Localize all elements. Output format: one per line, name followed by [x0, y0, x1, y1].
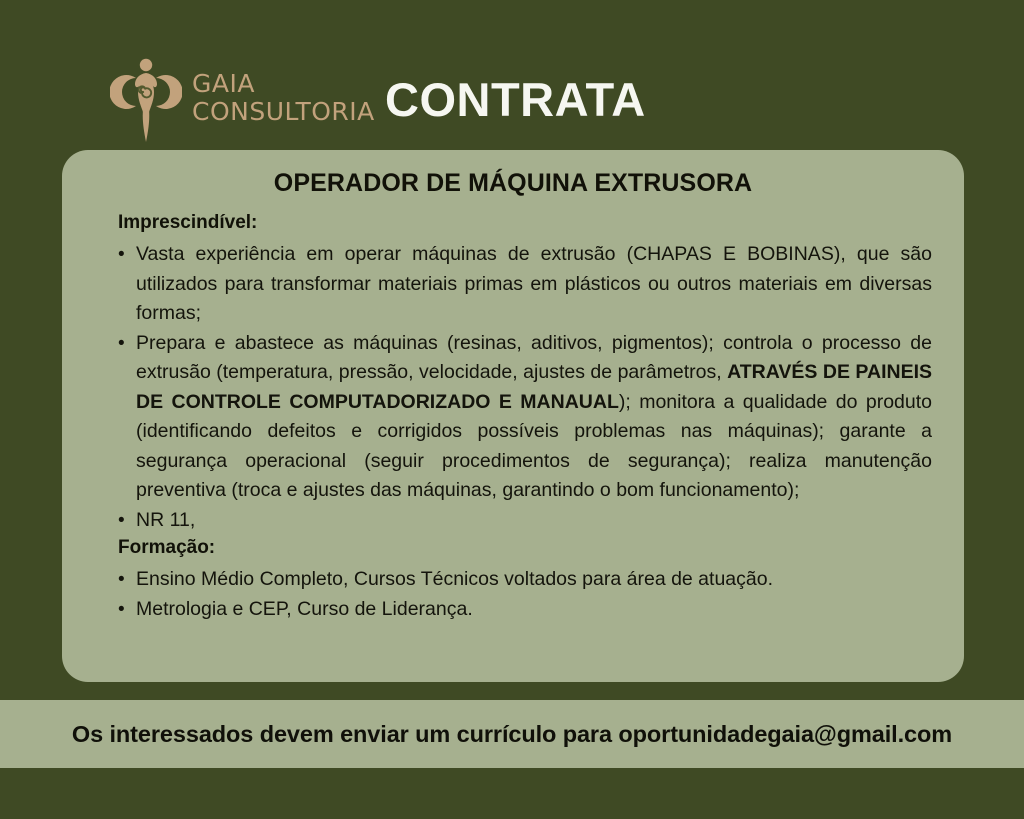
list-item: Vasta experiência em operar máquinas de …: [118, 240, 932, 329]
education-list: Ensino Médio Completo, Cursos Técnicos v…: [62, 565, 964, 624]
list-item: Prepara e abastece as máquinas (resinas,…: [118, 329, 932, 506]
page-title: OPERADOR DE MÁQUINA EXTRUSORA: [62, 169, 964, 198]
section-label-imprescindivel: Imprescindível:: [118, 212, 964, 234]
list-item: Ensino Médio Completo, Cursos Técnicos v…: [118, 565, 932, 595]
list-item-text: NR 11,: [136, 509, 195, 531]
job-card: OPERADOR DE MÁQUINA EXTRUSORA Imprescind…: [62, 150, 964, 682]
list-item-text: Ensino Médio Completo, Cursos Técnicos v…: [136, 568, 773, 590]
header: GAIA CONSULTORIA CONTRATA: [0, 0, 1024, 150]
headline: CONTRATA: [385, 76, 646, 123]
contact-instructions: Os interessados devem enviar um currícul…: [72, 721, 952, 748]
list-item: Metrologia e CEP, Curso de Liderança.: [118, 595, 932, 625]
requirements-list: Vasta experiência em operar máquinas de …: [62, 240, 964, 535]
goddess-crescent-logo-icon: [110, 48, 182, 144]
brand-name-line2: CONSULTORIA: [192, 99, 375, 124]
list-item-text: Metrologia e CEP, Curso de Liderança.: [136, 598, 473, 620]
brand-name-line1: GAIA: [192, 71, 375, 96]
footer-band: Os interessados devem enviar um currícul…: [0, 700, 1024, 768]
brand-logo: GAIA CONSULTORIA: [110, 48, 375, 144]
list-item: NR 11,: [118, 506, 932, 536]
list-item-text: Vasta experiência em operar máquinas de …: [136, 243, 932, 324]
section-label-formacao: Formação:: [118, 537, 964, 559]
